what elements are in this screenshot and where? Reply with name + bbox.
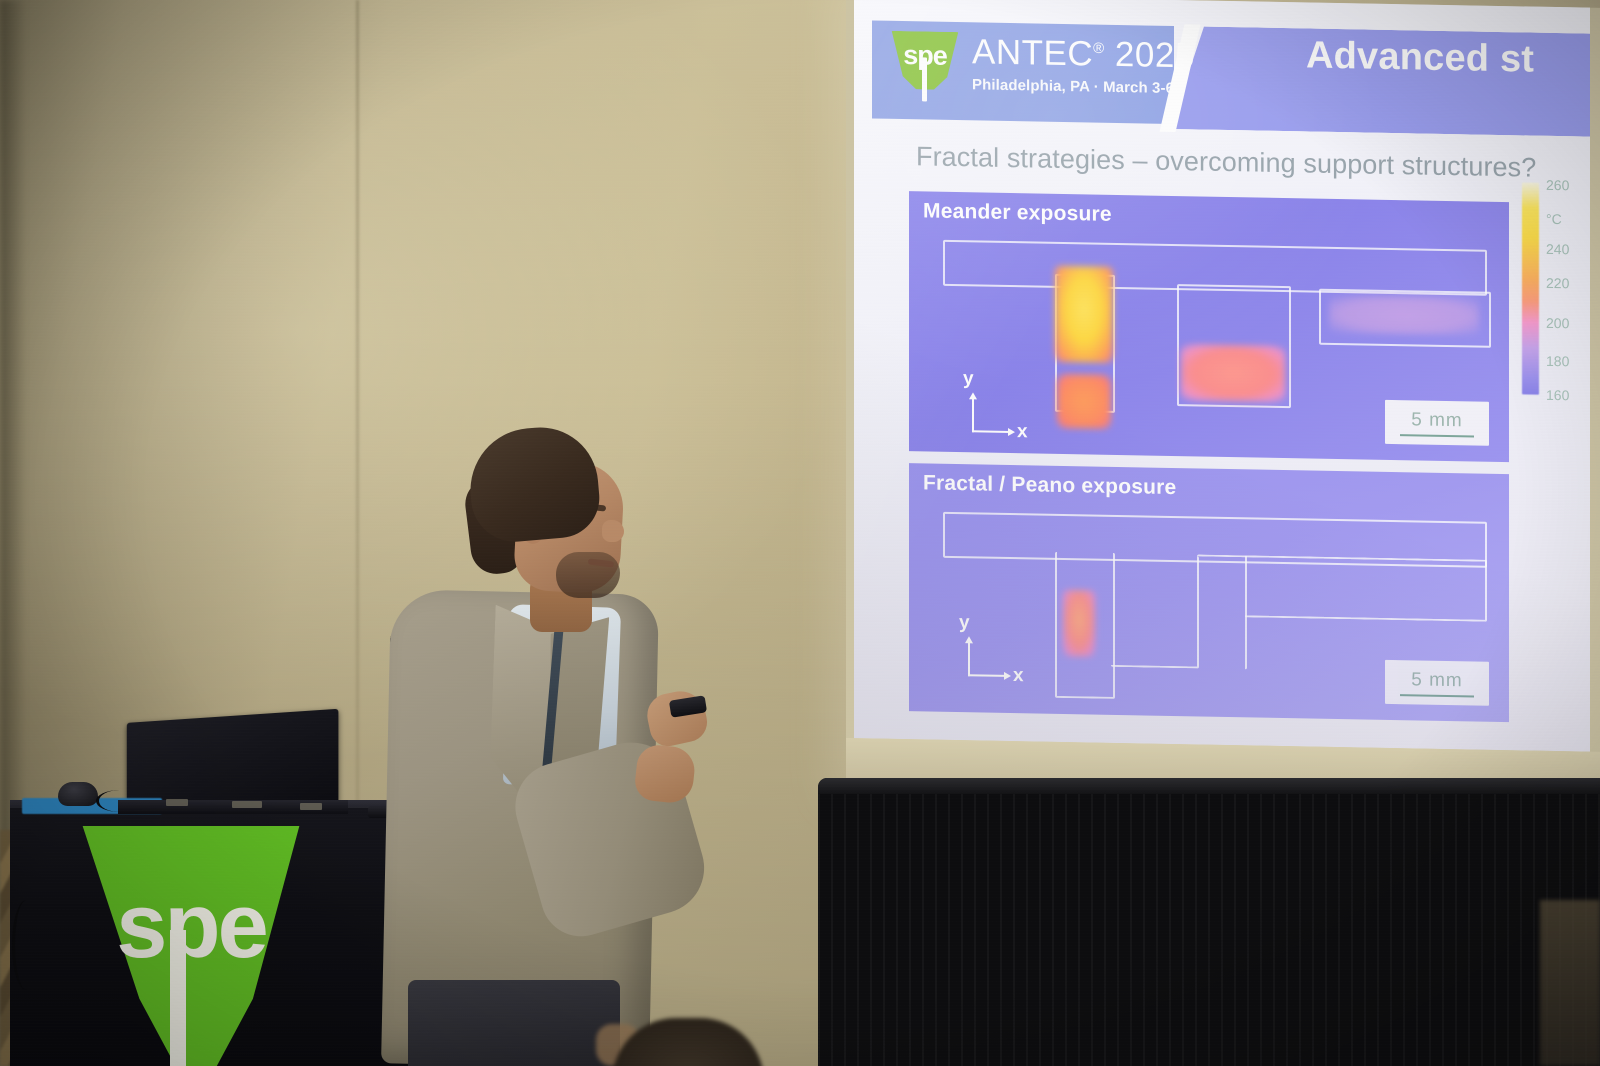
axis-label-x-meander: x	[1017, 421, 1028, 443]
table-port-2	[232, 801, 262, 808]
colorbar-tick-2: 220	[1546, 275, 1569, 291]
temperature-colorbar: 260 °C 240 220 200 180 160	[1516, 174, 1586, 405]
screen-surface: spe ANTEC® 2025 Philadelphia, PA · March…	[846, 0, 1600, 798]
scale-bar-rule-meander	[1400, 434, 1475, 437]
panel-label-meander: Meander exposure	[923, 199, 1112, 226]
table-port-1	[166, 799, 188, 806]
colorbar-tick-4: 180	[1546, 353, 1569, 369]
slide-subtitle: Fractal strategies – overcoming support …	[916, 141, 1536, 183]
geometry-outline-zigzag-b	[1111, 555, 1199, 669]
hotspot-primary	[1055, 266, 1113, 363]
axis-label-y-meander: y	[963, 368, 974, 390]
scale-bar-label-fractal: 5 mm	[1411, 669, 1463, 692]
stage-skirt-top-edge	[818, 778, 1600, 794]
colorbar-unit: °C	[1546, 211, 1562, 227]
spe-podium-text: spe	[62, 880, 320, 972]
geometry-outline-zigzag-d	[1245, 555, 1487, 621]
colorbar-tick-1: 240	[1546, 241, 1569, 257]
axis-label-x-fractal: x	[1013, 665, 1024, 687]
slide-canvas: spe ANTEC® 2025 Philadelphia, PA · March…	[854, 0, 1590, 752]
scale-bar-label-meander: 5 mm	[1411, 409, 1463, 432]
cable-2	[12, 900, 41, 990]
spe-logo: spe	[888, 31, 962, 104]
hotspot-lower-column	[1057, 374, 1111, 429]
axis-arrow-x-meander	[1008, 428, 1015, 436]
mouse[interactable]	[58, 782, 98, 806]
presenter-trousers	[408, 980, 620, 1066]
hotspot-right-faint	[1329, 295, 1479, 336]
axis-line-y-meander	[972, 398, 974, 432]
foreground-right-edge	[1540, 900, 1600, 1066]
presenter-hand-lower	[633, 743, 697, 805]
axis-label-y-fractal: y	[959, 612, 970, 634]
axis-line-x-fractal	[968, 674, 1006, 677]
hotspot-center-bar	[1181, 344, 1285, 402]
geometry-outline-zigzag-c	[1197, 554, 1247, 669]
registered-mark: ®	[1093, 40, 1105, 57]
axis-line-x-meander	[972, 430, 1010, 433]
spe-logo-text: spe	[888, 42, 962, 70]
table-port-3	[300, 803, 322, 810]
colorbar-tick-5: 160	[1546, 387, 1569, 403]
scale-bar-meander: 5 mm	[1385, 400, 1489, 446]
scale-bar-fractal: 5 mm	[1385, 660, 1489, 706]
colorbar-tick-3: 200	[1546, 315, 1569, 331]
presenter-hair	[465, 423, 602, 546]
colorbar-tick-0: 260	[1546, 177, 1569, 193]
colorbar-gradient	[1522, 182, 1539, 394]
axis-arrow-x-fractal	[1004, 672, 1011, 680]
hotspot-fractal-narrow	[1063, 590, 1095, 657]
conference-presentation-photo: spe ANTEC® 2025 Philadelphia, PA · March…	[0, 0, 1600, 1066]
panel-label-fractal: Fractal / Peano exposure	[923, 471, 1176, 500]
antec-block: ANTEC® 2025 Philadelphia, PA · March 3-6	[972, 34, 1195, 97]
spe-podium-stem	[170, 930, 186, 1066]
antec-title: ANTEC® 2025	[972, 34, 1195, 73]
presenter	[380, 420, 710, 1066]
projection-screen: spe ANTEC® 2025 Philadelphia, PA · March…	[846, 0, 1600, 790]
thermal-panel-fractal: Fractal / Peano exposure y x	[909, 463, 1509, 722]
stage-skirt	[818, 778, 1600, 1066]
slide-title: Advanced st	[1306, 34, 1534, 81]
antec-year: 2025	[1115, 35, 1195, 75]
antec-name: ANTEC	[972, 32, 1093, 73]
thermal-panel-meander: Meander exposure y	[909, 191, 1509, 462]
scale-bar-rule-fractal	[1400, 694, 1475, 697]
axis-line-y-fractal	[968, 642, 970, 676]
projected-slide: spe ANTEC® 2025 Philadelphia, PA · March…	[854, 0, 1590, 752]
cable-1	[96, 790, 143, 812]
presenter-nose	[602, 520, 624, 542]
